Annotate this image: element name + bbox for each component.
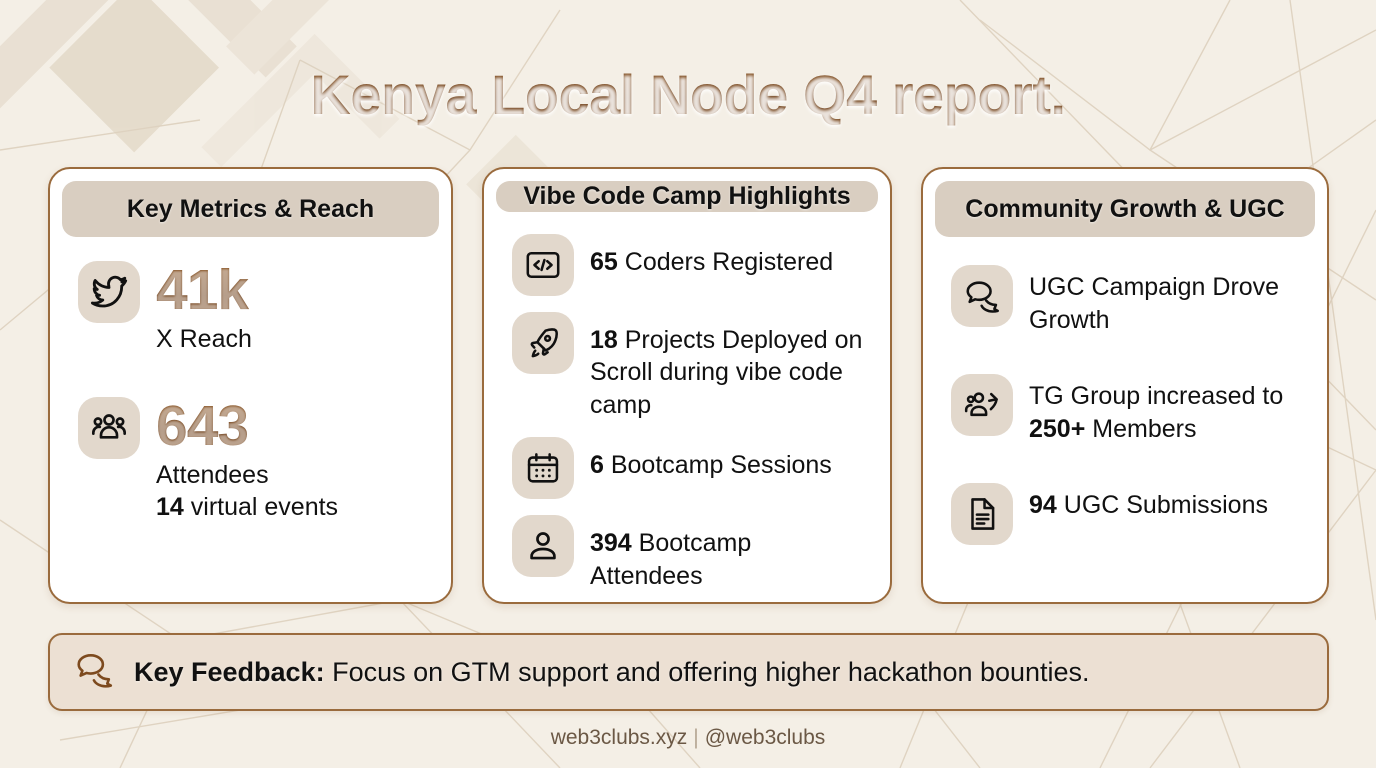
bullet-value-bootcamp-attendees: 394 — [590, 529, 632, 557]
card-key-metrics: Key Metrics & Reach 41k X Reach — [48, 167, 453, 604]
bullet-row-projects: 18 Projects Deployed on Scroll during vi… — [512, 312, 866, 422]
card-community-growth: Community Growth & UGC UGC Campaign Drov… — [921, 167, 1329, 604]
key-feedback-text: Key Feedback: Focus on GTM support and o… — [134, 657, 1090, 688]
bullet-text-ugc-campaign: UGC Campaign Drove Growth — [1029, 265, 1303, 336]
bullet-row-coders: 65 Coders Registered — [512, 234, 866, 296]
bullet-label-projects: Projects Deployed on Scroll during vibe … — [590, 326, 862, 419]
stat-label-line2-value: 14 — [156, 493, 184, 521]
key-feedback-body: Focus on GTM support and offering higher… — [325, 657, 1090, 687]
card-3-body: UGC Campaign Drove Growth TG Group incr — [935, 245, 1315, 592]
bullet-value-tg-group: 250+ — [1029, 415, 1085, 443]
twitter-bird-icon — [78, 261, 140, 323]
card-2-body: 65 Coders Registered 18 Projects Deploye… — [496, 220, 878, 593]
bullet-label-sessions: Bootcamp Sessions — [604, 451, 832, 479]
footer-separator: | — [693, 726, 698, 749]
card-3-title: Community Growth & UGC — [935, 181, 1315, 237]
card-1-title: Key Metrics & Reach — [62, 181, 439, 237]
bullet-label-ugc-campaign: UGC Campaign Drove Growth — [1029, 273, 1279, 334]
bullet-value-sessions: 6 — [590, 451, 604, 479]
calendar-icon — [512, 437, 574, 499]
stat-row-attendees: 643 Attendees 14 virtual events — [78, 397, 427, 523]
users-growth-icon — [951, 374, 1013, 436]
stat-label-line1: X Reach — [156, 325, 252, 353]
bullet-text-coders: 65 Coders Registered — [590, 234, 833, 279]
page-title: Kenya Local Node Q4 report. — [0, 62, 1376, 127]
footer-handle[interactable]: @web3clubs — [705, 726, 826, 749]
bullet-text-projects: 18 Projects Deployed on Scroll during vi… — [590, 312, 866, 422]
chat-bubbles-icon — [74, 649, 116, 696]
card-2-title: Vibe Code Camp Highlights — [496, 181, 878, 212]
bullet-label-ugc-submissions: UGC Submissions — [1057, 491, 1268, 519]
bullet-row-sessions: 6 Bootcamp Sessions — [512, 437, 866, 499]
bullet-label-tg-group: TG Group increased to — [1029, 382, 1283, 410]
chat-bubbles-icon — [951, 265, 1013, 327]
people-group-icon — [78, 397, 140, 459]
bullet-row-bootcamp-attendees: 394 Bootcamp Attendees — [512, 515, 866, 592]
stat-label-attendees: Attendees 14 virtual events — [156, 459, 338, 523]
footer-website[interactable]: web3clubs.xyz — [551, 726, 688, 749]
bullet-row-ugc-submissions: 94 UGC Submissions — [951, 483, 1303, 545]
stat-label-line1: Attendees — [156, 461, 269, 489]
bullet-label-coders: Coders Registered — [618, 248, 833, 276]
stat-number-x-reach: 41k — [156, 263, 252, 317]
code-brackets-icon — [512, 234, 574, 296]
bullet-row-tg-group: TG Group increased to 250+ Members — [951, 374, 1303, 445]
card-vibe-code-camp: Vibe Code Camp Highlights 65 Coders Regi… — [482, 167, 892, 604]
key-feedback-bar: Key Feedback: Focus on GTM support and o… — [48, 633, 1329, 711]
bullet-label-tg-group-after: Members — [1085, 415, 1196, 443]
stat-text-x-reach: 41k X Reach — [156, 261, 252, 355]
bullet-text-tg-group: TG Group increased to 250+ Members — [1029, 374, 1303, 445]
person-icon — [512, 515, 574, 577]
bullet-value-ugc-submissions: 94 — [1029, 491, 1057, 519]
cards-row: Key Metrics & Reach 41k X Reach — [48, 167, 1329, 604]
card-1-body: 41k X Reach — [62, 245, 439, 592]
stat-row-x-reach: 41k X Reach — [78, 261, 427, 355]
stat-label-x-reach: X Reach — [156, 323, 252, 355]
bullet-row-ugc-campaign: UGC Campaign Drove Growth — [951, 265, 1303, 336]
bullet-text-ugc-submissions: 94 UGC Submissions — [1029, 483, 1268, 522]
document-icon — [951, 483, 1013, 545]
bullet-value-projects: 18 — [590, 326, 618, 354]
bullet-text-sessions: 6 Bootcamp Sessions — [590, 437, 832, 482]
footer-credit: web3clubs.xyz|@web3clubs — [0, 726, 1376, 750]
rocket-icon — [512, 312, 574, 374]
key-feedback-label: Key Feedback: — [134, 657, 325, 687]
stat-text-attendees: 643 Attendees 14 virtual events — [156, 397, 338, 523]
stat-label-line2-text: virtual events — [184, 493, 338, 521]
stat-number-attendees: 643 — [156, 399, 338, 453]
bullet-value-coders: 65 — [590, 248, 618, 276]
bullet-text-bootcamp-attendees: 394 Bootcamp Attendees — [590, 515, 866, 592]
